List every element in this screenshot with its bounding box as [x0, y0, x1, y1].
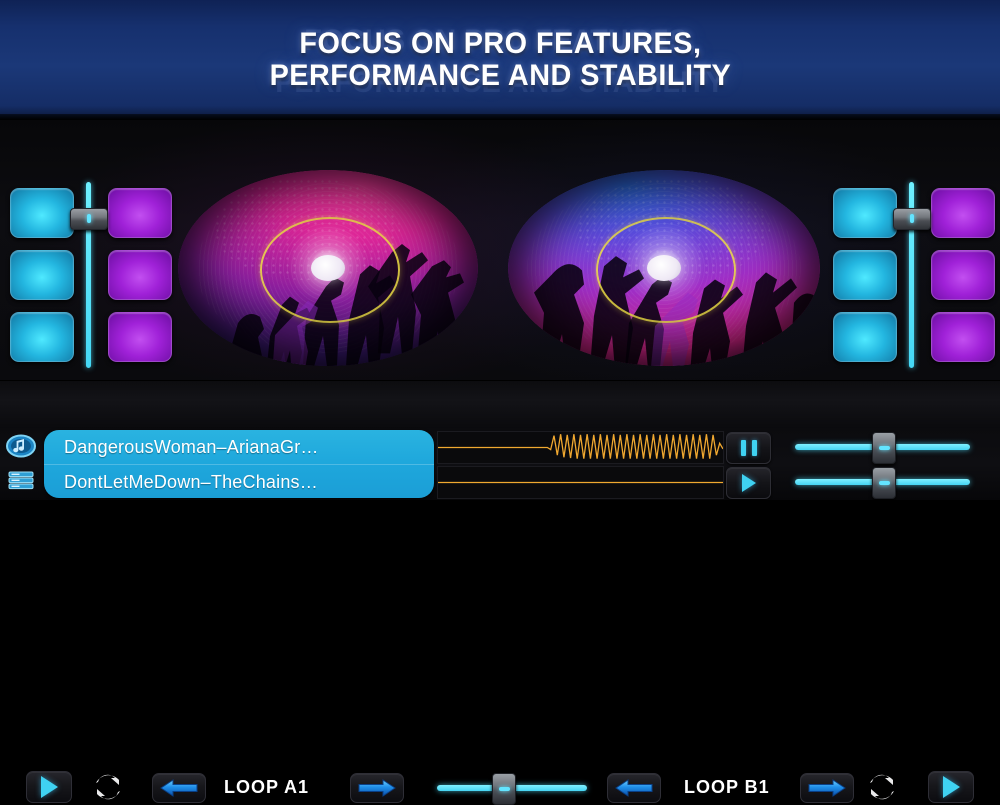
- pad-a2[interactable]: [10, 250, 74, 300]
- deck-a-sync-button[interactable]: [92, 773, 124, 801]
- list-item[interactable]: DontLetMeDown–TheChains…: [44, 465, 434, 498]
- sync-loop-icon: [92, 773, 124, 801]
- banner-headline-line1: FOCUS ON PRO FEATURES,: [299, 28, 701, 60]
- waveform-track-b[interactable]: [437, 466, 724, 499]
- banner-headline-line2: PERFORMANCE AND STABILITY: [269, 60, 731, 92]
- pad-a3[interactable]: [10, 312, 74, 362]
- pad-b3[interactable]: [833, 312, 897, 362]
- deck-b-vignette: [508, 170, 820, 366]
- track-list: DangerousWoman–ArianaGr… DontLetMeDown–T…: [44, 430, 434, 498]
- volume-b-knob[interactable]: [872, 467, 896, 499]
- deck-a-play-button[interactable]: [26, 771, 72, 803]
- pause-icon: [741, 440, 746, 456]
- pitch-slider-a-knob[interactable]: [70, 208, 108, 230]
- deck-b-play-button[interactable]: [928, 771, 974, 803]
- pad-b6[interactable]: [931, 312, 995, 362]
- track-a-pause-button[interactable]: [726, 432, 771, 464]
- loop-b-prev-button[interactable]: [607, 773, 661, 803]
- arrow-right-icon: [357, 778, 397, 798]
- waveform-b-path: [438, 467, 723, 498]
- bottom-bar: DangerousWoman–ArianaGr… DontLetMeDown–T…: [0, 428, 1000, 500]
- pad-b4[interactable]: [931, 188, 995, 238]
- deck-area: [0, 120, 1000, 380]
- playlist-icon: [6, 468, 36, 492]
- pad-b1[interactable]: [833, 188, 897, 238]
- loop-a-label: LOOP A1: [224, 777, 309, 798]
- list-item[interactable]: DangerousWoman–ArianaGr…: [44, 430, 434, 465]
- pad-a5[interactable]: [108, 250, 172, 300]
- loop-a-prev-button[interactable]: [152, 773, 206, 803]
- music-note-button[interactable]: [4, 432, 38, 460]
- left-pad-group: [0, 120, 185, 380]
- pad-a6[interactable]: [108, 312, 172, 362]
- pad-b2[interactable]: [833, 250, 897, 300]
- pause-icon: [752, 440, 757, 456]
- pad-a4[interactable]: [108, 188, 172, 238]
- loop-b-next-button[interactable]: [800, 773, 854, 803]
- turntable-deck-b[interactable]: [508, 170, 820, 366]
- track-b-play-button[interactable]: [726, 467, 771, 499]
- pitch-slider-b-knob[interactable]: [893, 208, 931, 230]
- play-icon: [943, 776, 960, 798]
- deck-b-sync-button[interactable]: [866, 773, 898, 801]
- crossfader-knob[interactable]: [492, 773, 516, 805]
- play-icon: [41, 776, 58, 798]
- right-pad-group: [815, 120, 1000, 380]
- turntable-deck-a[interactable]: [178, 170, 478, 366]
- music-note-icon: [6, 434, 36, 458]
- arrow-right-icon: [807, 778, 847, 798]
- waveform-a-path: [438, 432, 723, 463]
- playlist-button[interactable]: [4, 466, 38, 494]
- loop-b-label: LOOP B1: [684, 777, 770, 798]
- volume-a-knob[interactable]: [872, 432, 896, 464]
- play-icon: [742, 474, 756, 492]
- pad-b5[interactable]: [931, 250, 995, 300]
- arrow-left-icon: [614, 778, 654, 798]
- arrow-left-icon: [159, 778, 199, 798]
- loop-control-bar: LOOP A1 LOOP B1: [0, 380, 1000, 429]
- dj-app-screenshot: FOCUS ON PRO FEATURES, PERFORMANCE AND S…: [0, 0, 1000, 500]
- promo-banner: FOCUS ON PRO FEATURES, PERFORMANCE AND S…: [0, 0, 1000, 120]
- pad-a1[interactable]: [10, 188, 74, 238]
- sync-loop-icon: [866, 773, 898, 801]
- deck-a-vignette: [178, 170, 478, 366]
- loop-a-next-button[interactable]: [350, 773, 404, 803]
- waveform-track-a[interactable]: [437, 431, 724, 464]
